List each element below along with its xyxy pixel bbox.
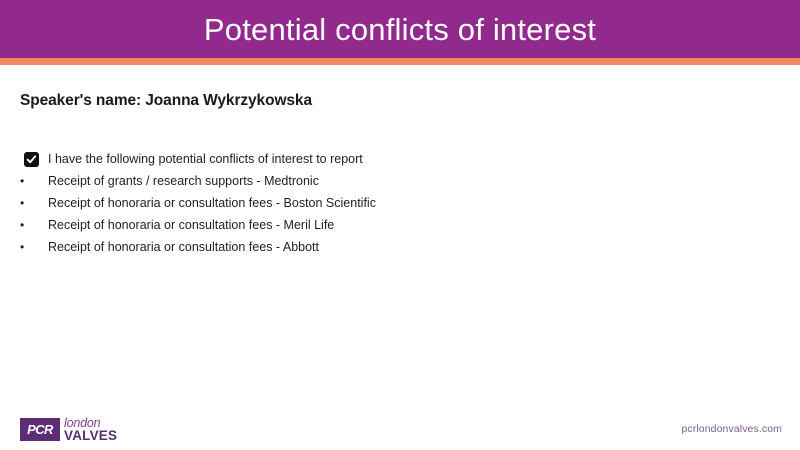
- list-item-label: Receipt of grants / research supports - …: [48, 170, 319, 192]
- page-title: Potential conflicts of interest: [204, 14, 596, 45]
- disclosure-block: I have the following potential conflicts…: [20, 148, 640, 258]
- bullet-icon: •: [20, 214, 48, 236]
- list-item: • Receipt of honoraria or consultation f…: [20, 236, 640, 258]
- disclosure-checkbox-row[interactable]: I have the following potential conflicts…: [20, 148, 640, 170]
- footer-website-url[interactable]: pcrlondonvalves.com: [681, 423, 782, 435]
- list-item-label: Receipt of honoraria or consultation fee…: [48, 192, 376, 214]
- slide: Potential conflicts of interest Speaker'…: [0, 0, 800, 450]
- bullet-icon: •: [20, 192, 48, 214]
- list-item: • Receipt of honoraria or consultation f…: [20, 214, 640, 236]
- logo-wordmark: london VALVES: [64, 417, 117, 442]
- speaker-name-line: Speaker's name: Joanna Wykrzykowska: [20, 92, 312, 110]
- bullet-icon: •: [20, 236, 48, 258]
- logo-word-valves: VALVES: [64, 429, 117, 442]
- bullet-icon: •: [20, 170, 48, 192]
- pcr-london-valves-logo: PCR london VALVES: [20, 416, 117, 442]
- list-item: • Receipt of honoraria or consultation f…: [20, 192, 640, 214]
- disclosure-checkbox-label: I have the following potential conflicts…: [48, 152, 363, 166]
- list-item-label: Receipt of honoraria or consultation fee…: [48, 236, 319, 258]
- pcr-logo-mark-label: PCR: [27, 423, 53, 436]
- list-item-label: Receipt of honoraria or consultation fee…: [48, 214, 334, 236]
- header-accent-rule: [0, 58, 800, 65]
- logo-word-london: london: [64, 417, 117, 429]
- list-item: • Receipt of grants / research supports …: [20, 170, 640, 192]
- checkbox-checked-icon[interactable]: [24, 152, 39, 167]
- pcr-logo-mark: PCR: [20, 418, 60, 441]
- header-band: Potential conflicts of interest: [0, 0, 800, 58]
